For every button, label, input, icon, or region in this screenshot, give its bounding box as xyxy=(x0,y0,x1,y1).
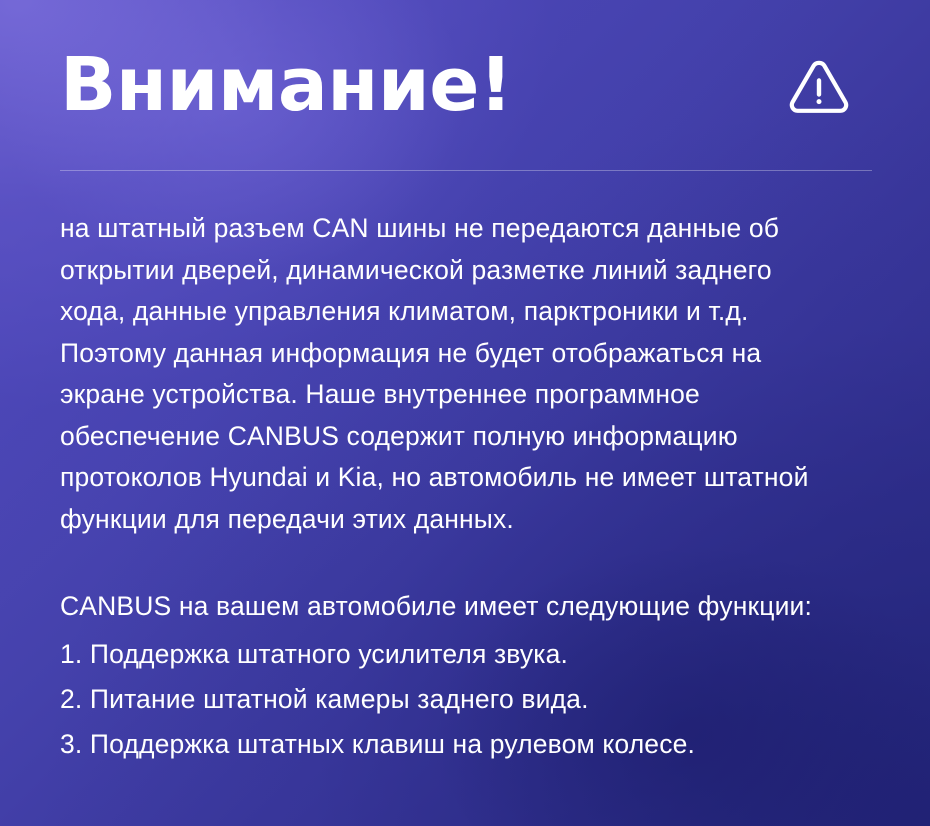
list-item: 2. Питание штатной камеры заднего вида. xyxy=(60,677,870,722)
warning-poster: Внимание! на штатный разъем CAN шины не … xyxy=(0,0,930,826)
paragraph-line: на штатный разъем CAN шины не передаются… xyxy=(60,208,870,250)
paragraph-line: открытии дверей, динамической разметке л… xyxy=(60,250,870,292)
poster-header: Внимание! xyxy=(60,0,870,170)
page-title: Внимание! xyxy=(60,48,512,122)
paragraph-line: протоколов Hyundai и Kia, но автомобиль … xyxy=(60,457,870,499)
paragraph-line: Поэтому данная информация не будет отобр… xyxy=(60,333,870,375)
poster-content: Внимание! на штатный разъем CAN шины не … xyxy=(0,0,930,767)
paragraph-line: хода, данные управления климатом, парктр… xyxy=(60,291,870,333)
list-item: 3. Поддержка штатных клавиш на рулевом к… xyxy=(60,722,870,767)
paragraph-line: экране устройства. Наше внутреннее прогр… xyxy=(60,374,870,416)
list-item: 1. Поддержка штатного усилителя звука. xyxy=(60,632,870,677)
warning-triangle-icon xyxy=(786,56,852,122)
functions-intro: CANBUS на вашем автомобиле имеет следующ… xyxy=(60,586,870,628)
warning-paragraph: на штатный разъем CAN шины не передаются… xyxy=(60,208,870,540)
paragraph-line: функции для передачи этих данных. xyxy=(60,499,870,541)
paragraph-line: обеспечение CANBUS содержит полную инфор… xyxy=(60,416,870,458)
functions-section: CANBUS на вашем автомобиле имеет следующ… xyxy=(60,586,870,767)
